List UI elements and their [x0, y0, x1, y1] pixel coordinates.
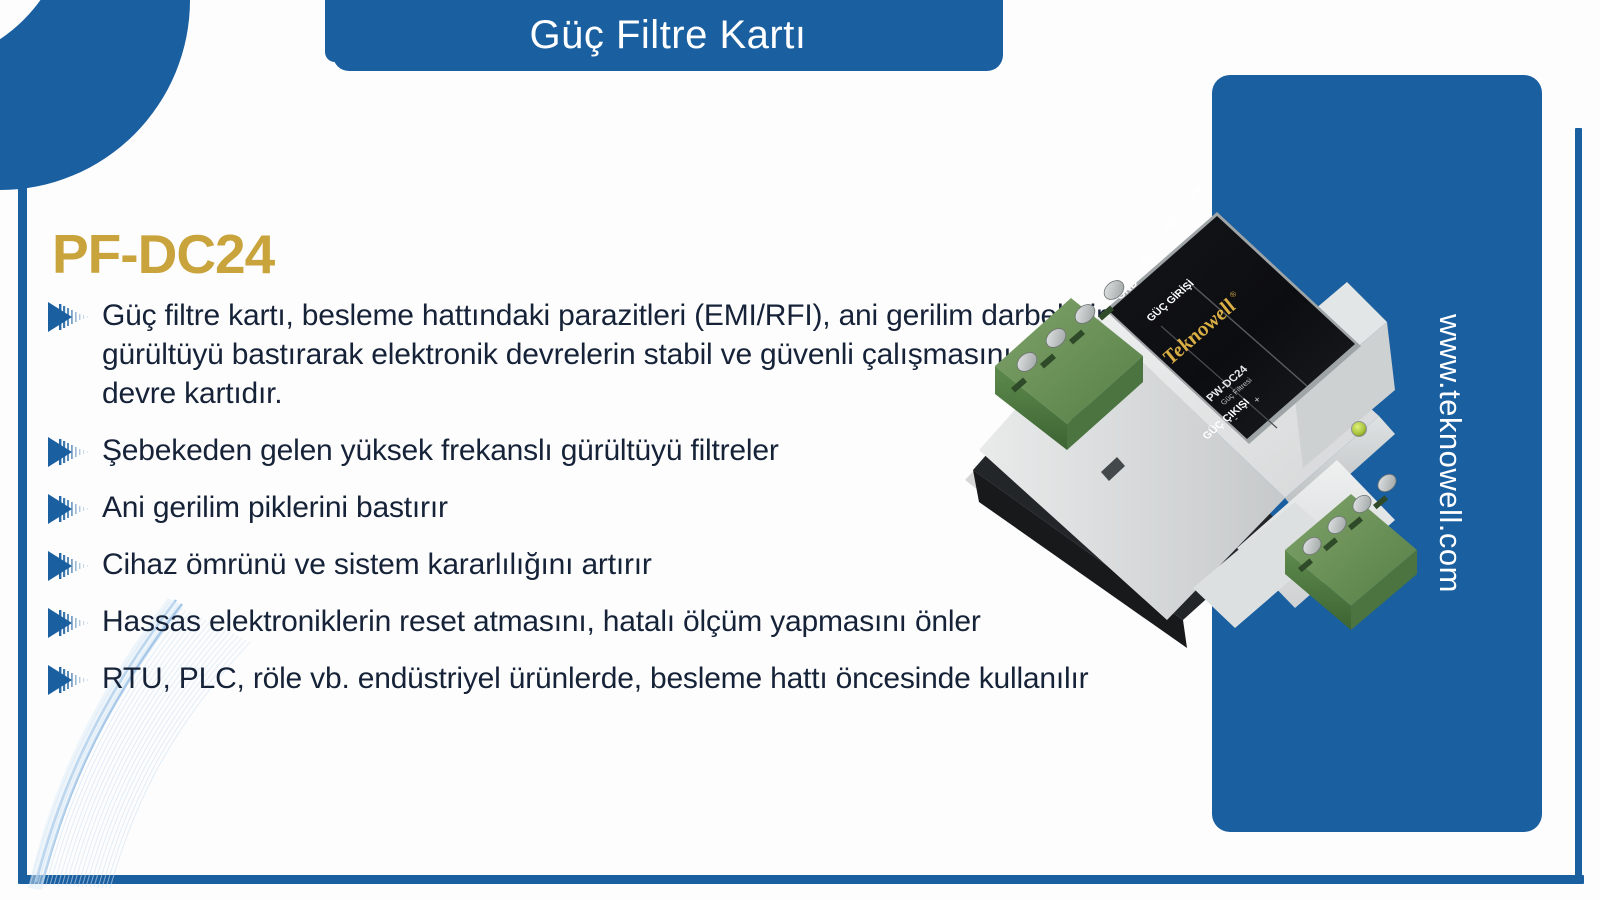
website-url-text: www.teknowell.com — [1432, 314, 1468, 593]
list-item: RTU, PLC, röle vb. endüstriyel ürünlerde… — [46, 659, 1206, 698]
header-banner: Güç Filtre Kartı — [333, 0, 1003, 71]
frame-bottom-rule — [18, 875, 1584, 884]
feature-text: Ani gerilim piklerini bastırır — [102, 488, 448, 527]
striped-play-arrow-icon — [46, 549, 94, 583]
striped-play-arrow-icon — [46, 492, 94, 526]
corner-arc-decoration — [0, 0, 190, 190]
frame-right-rule — [1575, 128, 1582, 876]
product-model-title: PF-DC24 — [52, 222, 274, 286]
feature-text: Şebekeden gelen yüksek frekanslı gürültü… — [102, 431, 779, 470]
svg-text:NC: NC — [1139, 248, 1160, 266]
striped-play-arrow-icon — [46, 663, 94, 697]
website-url: www.teknowell.com — [1420, 75, 1480, 832]
striped-play-arrow-icon — [46, 435, 94, 469]
feature-text: RTU, PLC, röle vb. endüstriyel ürünlerde… — [102, 659, 1088, 698]
feature-text: Cihaz ömrünü ve sistem kararlılığını art… — [102, 545, 652, 584]
frame-left-rule — [18, 128, 27, 876]
page-title: Güç Filtre Kartı — [530, 13, 807, 58]
poster-page: Güç Filtre Kartı PF-DC24 — [0, 0, 1600, 900]
striped-play-arrow-icon — [46, 606, 94, 640]
feature-text: Hassas elektroniklerin reset atmasını, h… — [102, 602, 981, 641]
svg-text:NC: NC — [1163, 214, 1184, 232]
striped-play-arrow-icon — [46, 300, 94, 334]
svg-text:24V: 24V — [1182, 184, 1206, 205]
product-image: GND NC NC 24V GÜÇ GİRİŞİ Teknowell ® PW-… — [955, 150, 1425, 650]
